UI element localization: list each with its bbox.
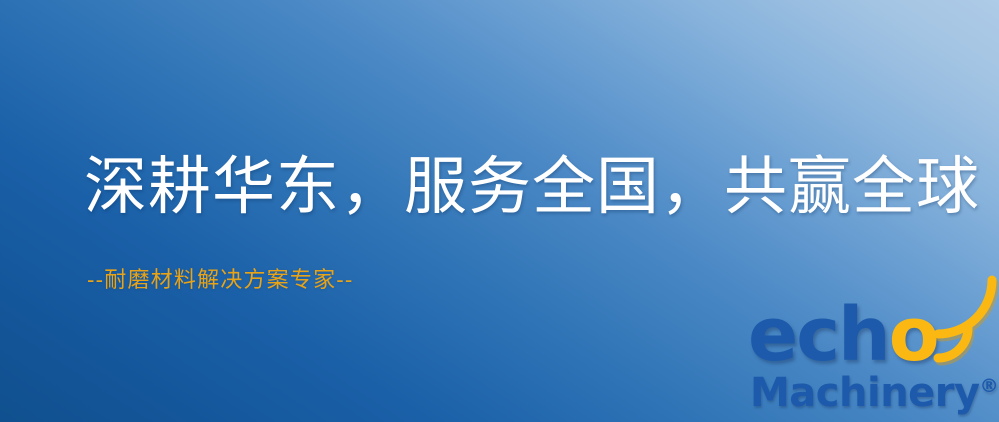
logo-tagline: Machinery® xyxy=(750,362,999,417)
signal-waves-icon xyxy=(928,298,994,360)
banner-subtitle: --耐磨材料解决方案专家-- xyxy=(87,266,354,296)
promo-banner: 深耕华东，服务全国，共赢全球 --耐磨材料解决方案专家-- echo Machi… xyxy=(0,0,999,422)
registered-trademark-icon: ® xyxy=(980,375,999,397)
company-logo: echo Machinery® xyxy=(742,300,994,420)
logo-tagline-text: Machinery xyxy=(750,370,980,416)
banner-headline: 深耕华东，服务全国，共赢全球 xyxy=(84,148,980,226)
